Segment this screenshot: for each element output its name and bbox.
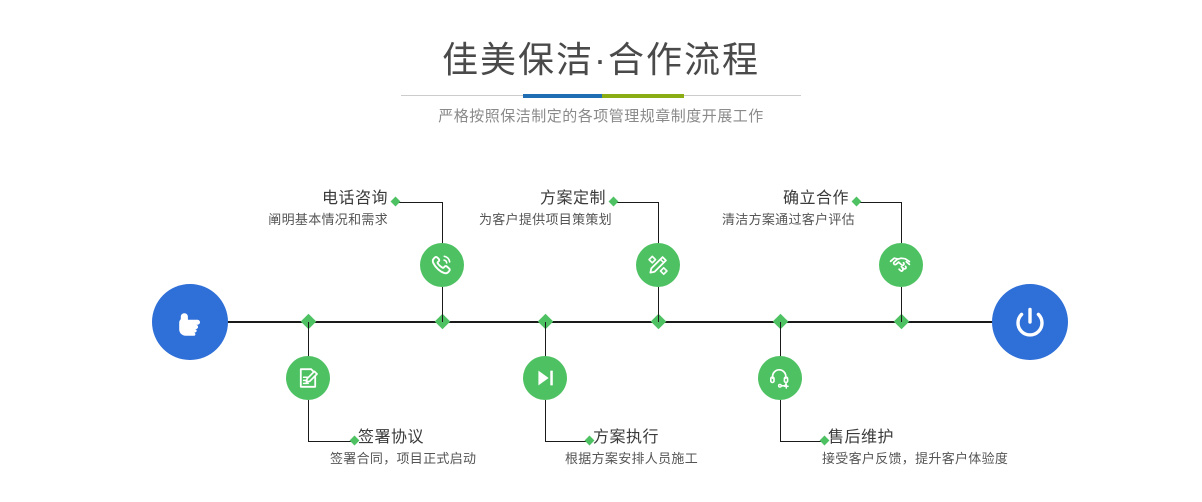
document-pen-icon bbox=[295, 365, 321, 391]
step-connector-horizontal bbox=[545, 441, 589, 442]
step-stem bbox=[901, 287, 902, 322]
step-title: 售后维护 bbox=[828, 427, 1008, 449]
step-desc: 接受客户反馈，提升客户体验度 bbox=[822, 449, 1008, 469]
step-desc: 签署合同，项目正式启动 bbox=[330, 449, 476, 469]
step-node-execute[interactable] bbox=[523, 356, 567, 400]
step-node-handshake[interactable] bbox=[879, 243, 923, 287]
step-node-phone[interactable] bbox=[420, 243, 464, 287]
divider-segment-blue bbox=[523, 94, 602, 98]
title-divider bbox=[401, 94, 801, 98]
headset-support-icon bbox=[767, 365, 793, 391]
step-node-design[interactable] bbox=[636, 243, 680, 287]
phone-call-icon bbox=[429, 252, 455, 278]
page-title: 佳美保洁·合作流程 bbox=[0, 38, 1202, 82]
step-connector-tip bbox=[852, 197, 862, 207]
timeline-end-node[interactable] bbox=[992, 284, 1068, 360]
step-stem bbox=[780, 322, 781, 357]
handshake-icon bbox=[888, 252, 914, 278]
page-subtitle: 严格按照保洁制定的各项管理规章制度开展工作 bbox=[0, 106, 1202, 128]
step-connector-vertical bbox=[545, 400, 546, 441]
process-flow-infographic: 佳美保洁·合作流程 严格按照保洁制定的各项管理规章制度开展工作 bbox=[0, 0, 1202, 502]
step-desc: 清洁方案通过客户评估 bbox=[459, 210, 855, 230]
step-stem bbox=[658, 287, 659, 322]
step-connector-horizontal bbox=[780, 441, 824, 442]
step-stem bbox=[308, 322, 309, 357]
step-node-support[interactable] bbox=[758, 356, 802, 400]
play-execute-icon bbox=[532, 365, 558, 391]
step-connector-vertical bbox=[308, 400, 309, 441]
step-connector-vertical bbox=[780, 400, 781, 441]
step-connector-horizontal bbox=[857, 202, 901, 203]
step-title: 确立合作 bbox=[459, 188, 849, 210]
step-title: 方案执行 bbox=[593, 427, 698, 449]
hand-pointing-icon bbox=[170, 302, 210, 342]
step-desc: 根据方案安排人员施工 bbox=[565, 449, 698, 469]
timeline-start-node[interactable] bbox=[152, 284, 228, 360]
step-stem bbox=[442, 287, 443, 322]
step-title: 签署协议 bbox=[358, 427, 476, 449]
divider-segment-green bbox=[602, 94, 684, 98]
step-label-5: 确立合作 清洁方案通过客户评估 bbox=[459, 188, 849, 230]
power-icon bbox=[1008, 300, 1052, 344]
timeline: 电话咨询 阐明基本情况和需求 签署协议 签署合同，项目正式启动 bbox=[0, 150, 1202, 502]
step-connector-vertical bbox=[901, 202, 902, 243]
pencil-design-icon bbox=[645, 252, 671, 278]
step-stem bbox=[545, 322, 546, 357]
step-label-2: 签署协议 签署合同，项目正式启动 bbox=[358, 427, 476, 469]
step-label-4: 方案执行 根据方案安排人员施工 bbox=[593, 427, 698, 469]
step-label-6: 售后维护 接受客户反馈，提升客户体验度 bbox=[828, 427, 1008, 469]
header: 佳美保洁·合作流程 严格按照保洁制定的各项管理规章制度开展工作 bbox=[0, 0, 1202, 150]
step-node-document[interactable] bbox=[286, 356, 330, 400]
step-connector-horizontal bbox=[308, 441, 354, 442]
